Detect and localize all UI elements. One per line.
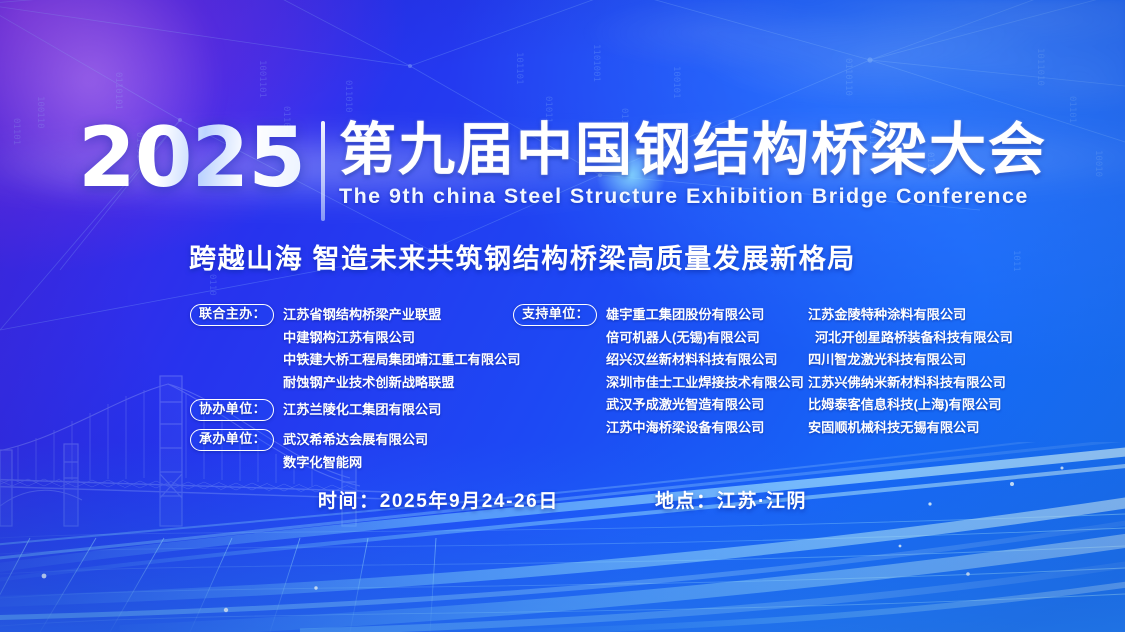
supporting-units-group: 支持单位： 雄宇重工集团股份有限公司 倍可机器人(无锡)有限公司 绍兴汉丝新材料… <box>513 304 804 439</box>
list-item: 安固顺机械科技无锡有限公司 <box>808 417 1013 440</box>
list-item: 江苏兴佛纳米新材料科技有限公司 <box>808 372 1013 395</box>
list-item: 雄宇重工集团股份有限公司 <box>606 304 804 327</box>
list-item: 耐蚀钢产业技术创新战略联盟 <box>283 372 520 395</box>
joint-organizers-group: 联合主办： 江苏省钢结构桥梁产业联盟 中建钢构江苏有限公司 中铁建大桥工程局集团… <box>190 304 520 394</box>
banner-content: 2025 第九届中国钢结构桥梁大会 The 9th china Steel St… <box>0 0 1125 632</box>
hosting-unit-group: 承办单位： 武汉希希达会展有限公司 数字化智能网 <box>190 429 428 474</box>
list-item: 江苏金陵特种涂料有限公司 <box>808 304 1013 327</box>
list-item: 武汉希希达会展有限公司 <box>283 429 428 452</box>
organizer-sections: 联合主办： 江苏省钢结构桥梁产业联盟 中建钢构江苏有限公司 中铁建大桥工程局集团… <box>0 0 1125 632</box>
cooperating-unit-label: 协办单位： <box>190 399 274 421</box>
list-item: 江苏省钢结构桥梁产业联盟 <box>283 304 520 327</box>
list-item: 中建钢构江苏有限公司 <box>283 327 520 350</box>
supporting-units-list: 雄宇重工集团股份有限公司 倍可机器人(无锡)有限公司 绍兴汉丝新材料科技有限公司… <box>606 304 804 439</box>
list-item: 比姆泰客信息科技(上海)有限公司 <box>808 394 1013 417</box>
list-item: 河北开创星路桥装备科技有限公司 <box>808 327 1013 350</box>
event-location: 地点：江苏·江阴 <box>655 486 807 513</box>
hosting-unit-list: 武汉希希达会展有限公司 数字化智能网 <box>283 429 428 474</box>
event-meta: 时间：2025年9月24-26日 地点：江苏·江阴 <box>0 486 1125 513</box>
event-date: 时间：2025年9月24-26日 <box>318 486 559 513</box>
list-item: 倍可机器人(无锡)有限公司 <box>606 327 804 350</box>
supporting-units-column-2: 江苏金陵特种涂料有限公司 河北开创星路桥装备科技有限公司 四川智龙激光科技有限公… <box>808 304 1013 439</box>
list-item: 绍兴汉丝新材料科技有限公司 <box>606 349 804 372</box>
list-item: 江苏兰陵化工集团有限公司 <box>283 399 441 422</box>
joint-organizers-list: 江苏省钢结构桥梁产业联盟 中建钢构江苏有限公司 中铁建大桥工程局集团靖江重工有限… <box>283 304 520 394</box>
list-item: 武汉予成激光智造有限公司 <box>606 394 804 417</box>
list-item: 中铁建大桥工程局集团靖江重工有限公司 <box>283 349 520 372</box>
list-item: 江苏中海桥梁设备有限公司 <box>606 417 804 440</box>
cooperating-unit-list: 江苏兰陵化工集团有限公司 <box>283 399 441 422</box>
conference-banner: 01101 100110 0110101 01001 1001101 01101… <box>0 0 1125 632</box>
list-item: 四川智龙激光科技有限公司 <box>808 349 1013 372</box>
joint-organizers-label: 联合主办： <box>190 304 274 326</box>
list-item: 深圳市佳士工业焊接技术有限公司 <box>606 372 804 395</box>
cooperating-unit-group: 协办单位： 江苏兰陵化工集团有限公司 <box>190 399 441 422</box>
list-item: 数字化智能网 <box>283 452 428 475</box>
hosting-unit-label: 承办单位： <box>190 429 274 451</box>
supporting-units-label: 支持单位： <box>513 304 597 326</box>
